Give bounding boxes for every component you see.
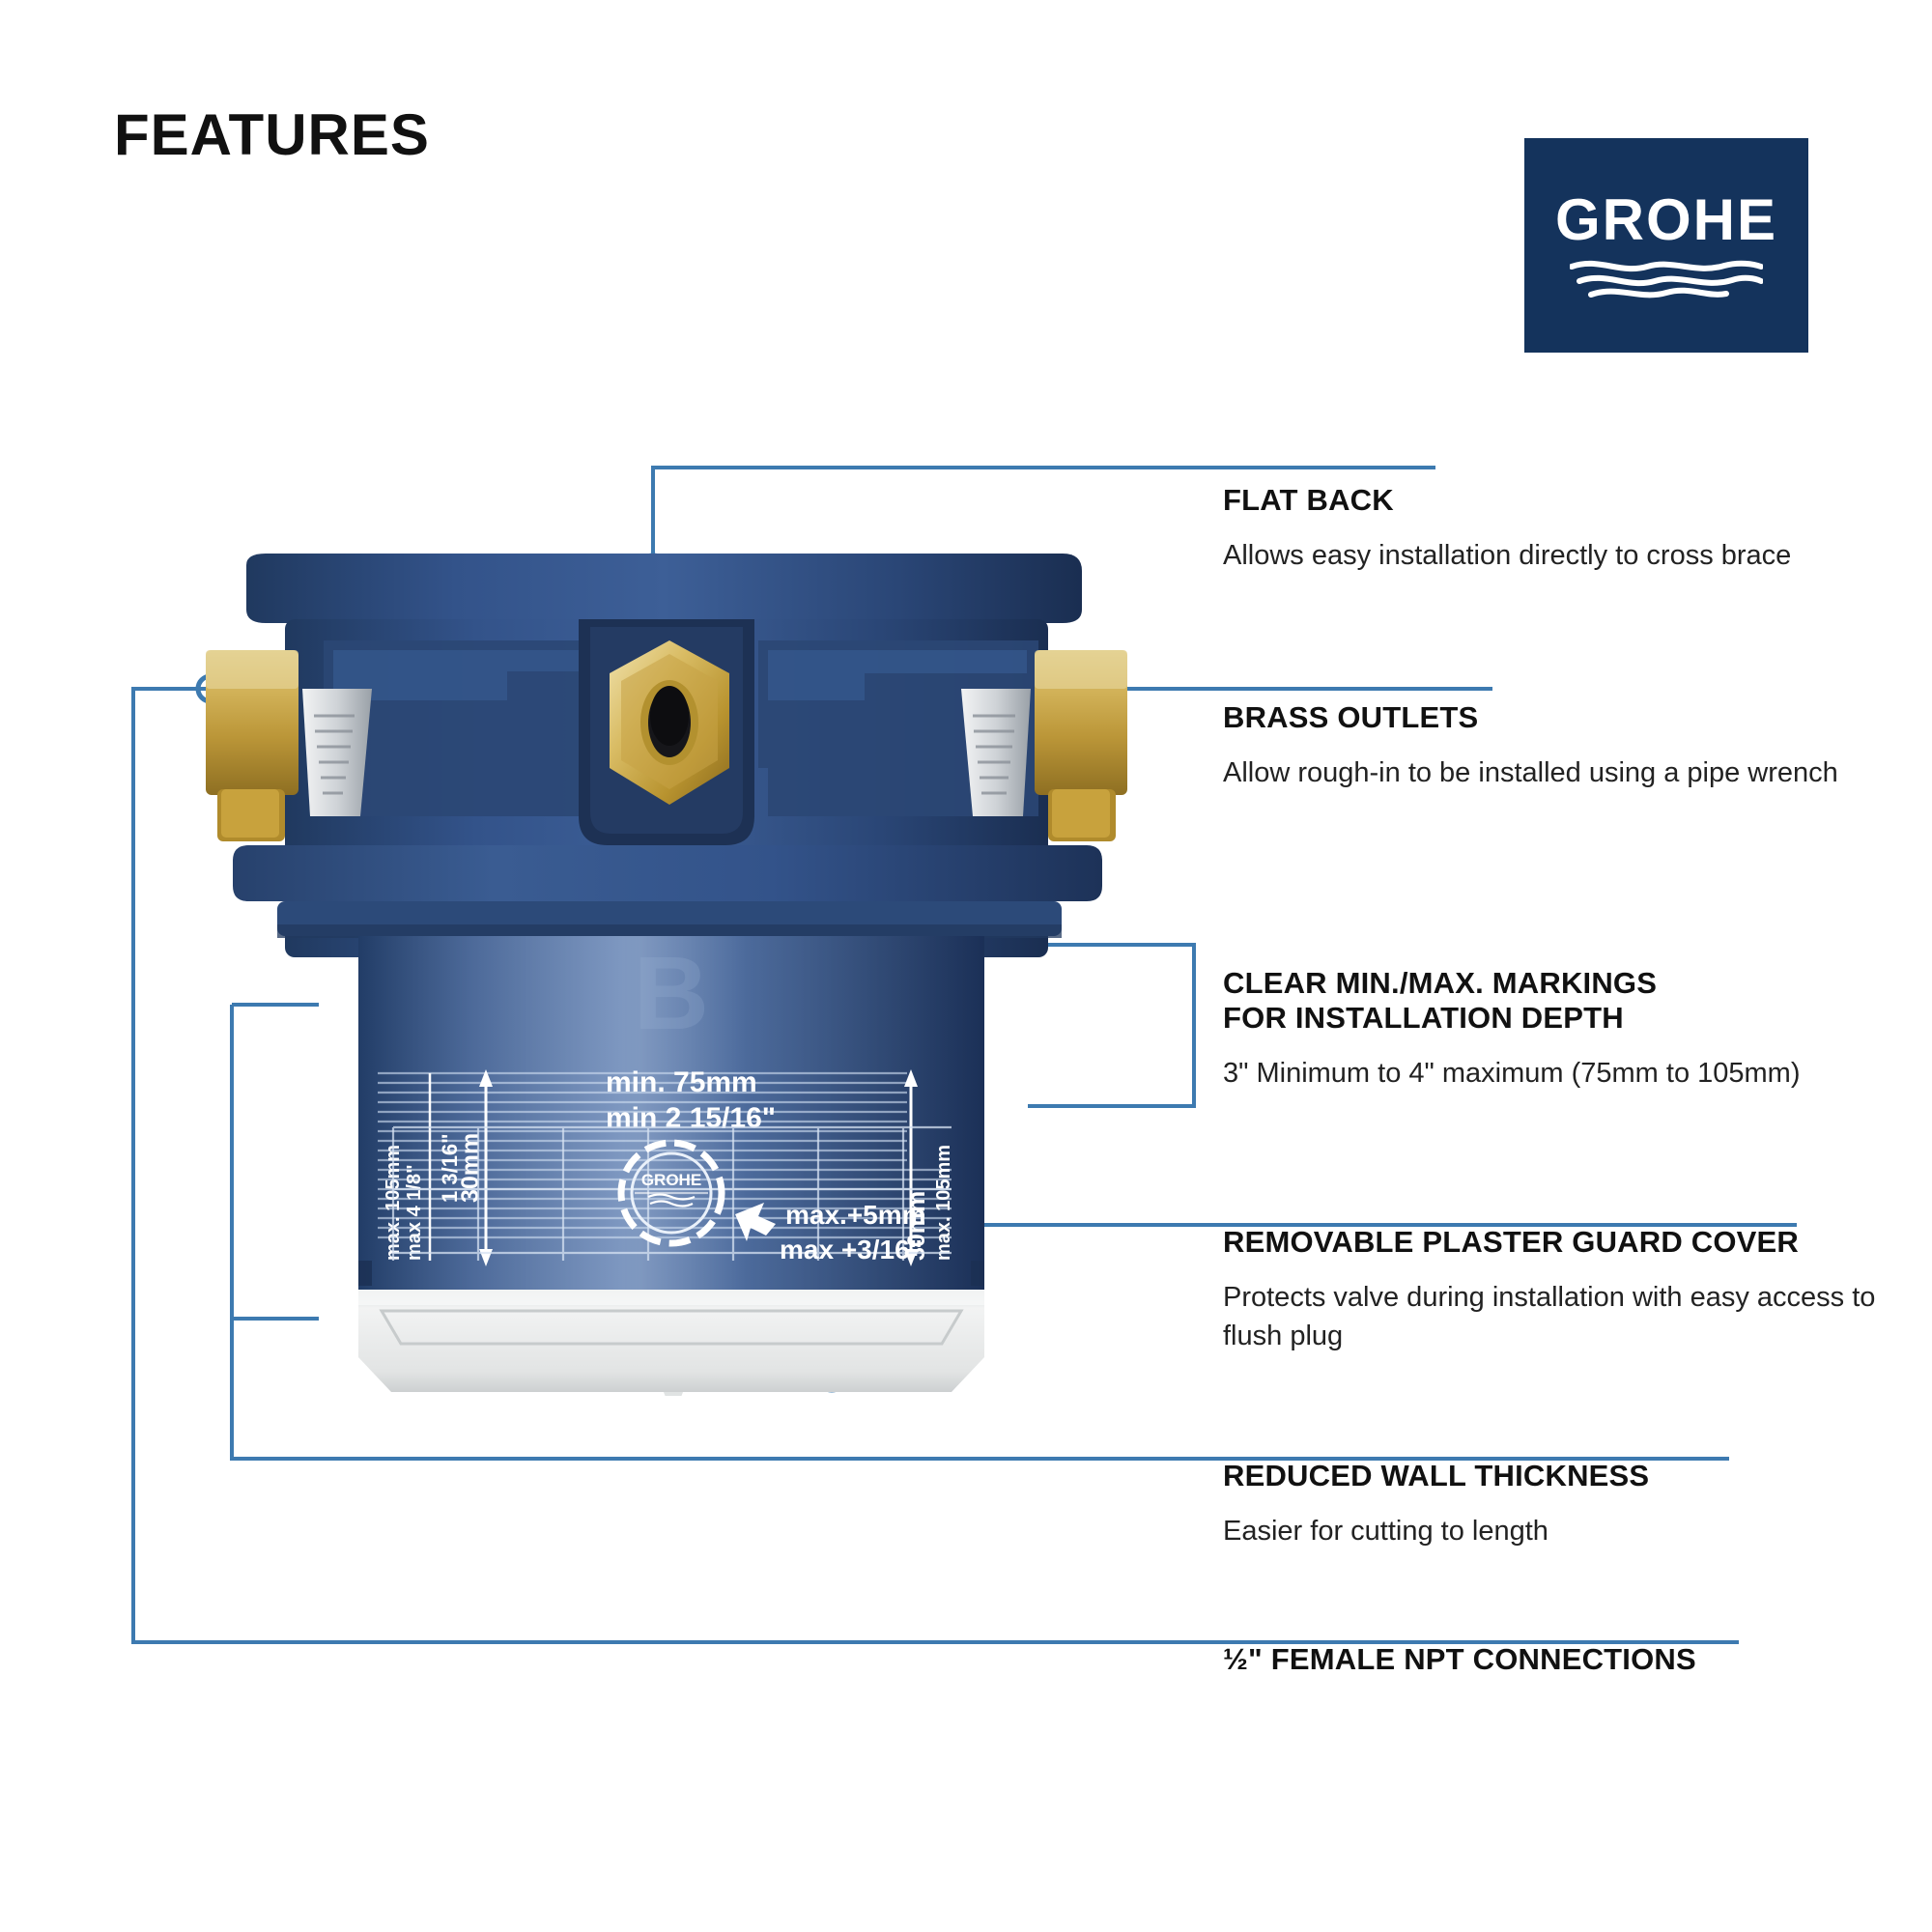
callout-markings: CLEAR MIN./MAX. MARKINGS FOR INSTALLATIO…	[1223, 966, 1932, 1094]
brass-outlet-left	[206, 650, 298, 841]
callout-body: Easier for cutting to length	[1223, 1513, 1932, 1551]
callout-npt-connections: ½" FEMALE NPT CONNECTIONS	[1223, 1642, 1932, 1696]
label-min-metric: min. 75mm	[606, 1066, 757, 1098]
valve-top-assembly	[206, 554, 1127, 957]
feature-sheet: FEATURES GROHE	[0, 0, 1932, 1932]
callout-heading: BRASS OUTLETS	[1223, 700, 1899, 735]
product-illustration: B	[188, 526, 1154, 1396]
plaster-guard-cover	[358, 1290, 984, 1396]
callout-brass-outlets: BRASS OUTLETS Allow rough-in to be insta…	[1223, 700, 1899, 793]
callout-heading: REMOVABLE PLASTER GUARD COVER	[1223, 1225, 1932, 1260]
retaining-clip-right	[961, 689, 1031, 816]
label-min-imperial: min 2 15/16"	[606, 1102, 776, 1134]
label-right-max-metric: max. 105mm	[933, 1145, 954, 1261]
label-cover-max-imperial: max +3/16"	[780, 1235, 923, 1264]
callout-body: Protects valve during installation with …	[1223, 1279, 1932, 1355]
callout-flat-back: FLAT BACK Allows easy installation direc…	[1223, 483, 1899, 576]
callout-body: Allows easy installation directly to cro…	[1223, 537, 1899, 576]
callout-body: 3" Minimum to 4" maximum (75mm to 105mm)	[1223, 1055, 1932, 1094]
emboss-b-mark: B	[634, 934, 709, 1051]
callout-heading-line1: CLEAR MIN./MAX. MARKINGS	[1223, 966, 1657, 1000]
svg-text:B: B	[634, 934, 709, 1051]
emblem-wordmark: GROHE	[641, 1171, 701, 1189]
callout-heading: REDUCED WALL THICKNESS	[1223, 1459, 1932, 1493]
callout-wall-thickness: REDUCED WALL THICKNESS Easier for cuttin…	[1223, 1459, 1932, 1551]
label-left-span-metric: 30mm	[457, 1133, 484, 1203]
callout-heading: FLAT BACK	[1223, 483, 1899, 518]
callout-heading: ½" FEMALE NPT CONNECTIONS	[1223, 1642, 1932, 1677]
brass-outlet-right	[1035, 650, 1127, 841]
retaining-clip-left	[302, 689, 372, 816]
valve-body-cylinder: B	[358, 934, 984, 1290]
label-cover-max-metric: max.+5mm	[785, 1200, 926, 1230]
callout-heading-line2: FOR INSTALLATION DEPTH	[1223, 1001, 1932, 1036]
callout-body: Allow rough-in to be installed using a p…	[1223, 754, 1899, 793]
callout-plaster-guard: REMOVABLE PLASTER GUARD COVER Protects v…	[1223, 1225, 1932, 1355]
callout-heading: CLEAR MIN./MAX. MARKINGS FOR INSTALLATIO…	[1223, 966, 1932, 1036]
label-left-max-imperial: max 4 1/8"	[404, 1164, 425, 1261]
